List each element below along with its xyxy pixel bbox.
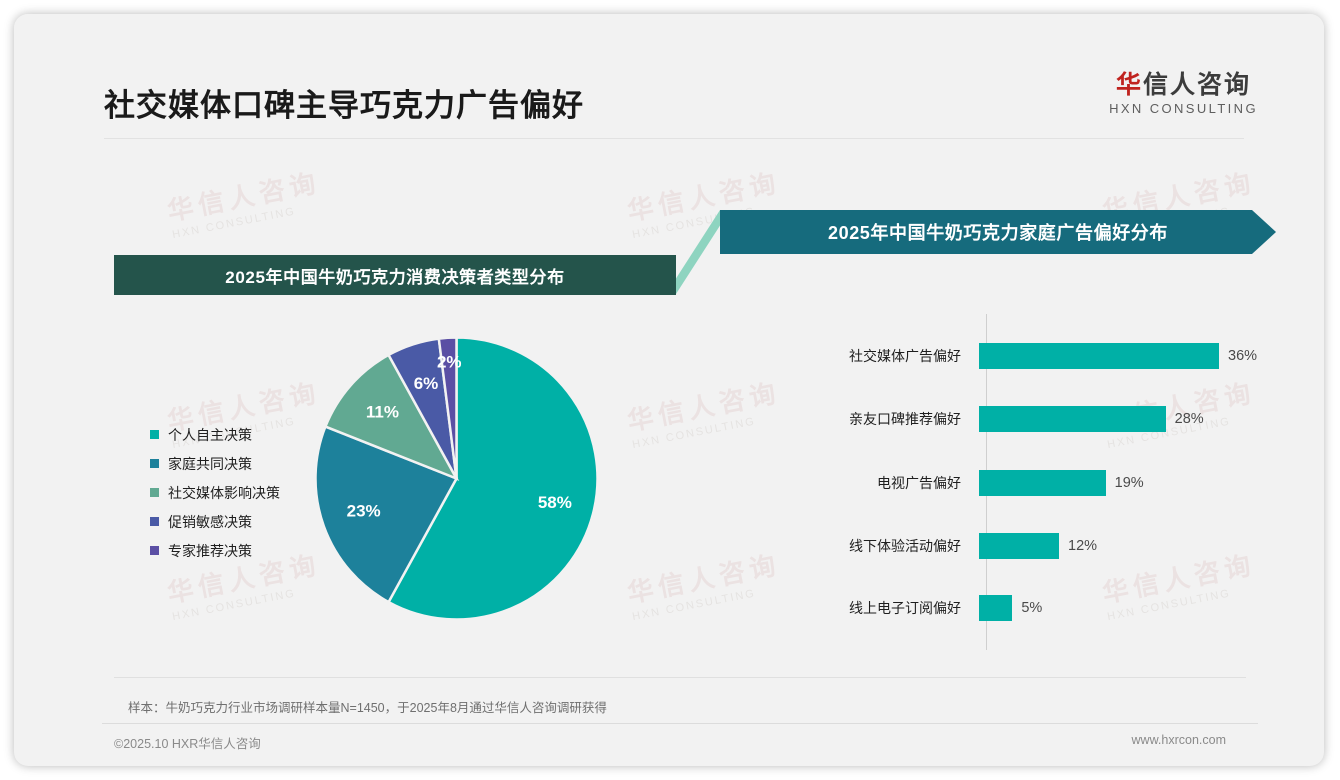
website-link[interactable]: www.hxrcon.com xyxy=(1132,733,1226,747)
watermark-en: HXN CONSULTING xyxy=(631,410,785,451)
watermark-cn: 华信人咨询 xyxy=(164,162,323,228)
legend-swatch-icon xyxy=(150,459,159,468)
bar-value-label: 5% xyxy=(1021,600,1042,616)
pie-legend: 个人自主决策家庭共同决策社交媒体影响决策促销敏感决策专家推荐决策 xyxy=(150,420,280,565)
bar-category-label: 社交媒体广告偏好 xyxy=(819,346,979,366)
watermark-en: HXN CONSULTING xyxy=(171,582,325,623)
bar-fill xyxy=(979,533,1059,559)
legend-swatch-icon xyxy=(150,546,159,555)
watermark: 华信人咨询 HXN CONSULTING xyxy=(164,162,326,241)
legend-item[interactable]: 专家推荐决策 xyxy=(150,536,280,565)
header-divider xyxy=(104,138,1244,139)
page-title: 社交媒体口碑主导巧克力广告偏好 xyxy=(104,80,584,125)
legend-item[interactable]: 促销敏感决策 xyxy=(150,507,280,536)
company-logo: 华信人咨询 HXN CONSULTING xyxy=(1109,72,1258,116)
watermark: 华信人咨询 HXN CONSULTING xyxy=(624,372,786,451)
bar-chart-row[interactable]: 线下体验活动偏好12% xyxy=(819,533,1097,559)
bar-category-label: 线上电子订阅偏好 xyxy=(819,598,979,618)
banner-right: 2025年中国牛奶巧克力家庭广告偏好分布 xyxy=(720,210,1276,254)
watermark-en: HXN CONSULTING xyxy=(631,582,785,623)
bar-chart-row[interactable]: 电视广告偏好19% xyxy=(819,470,1144,496)
legend-item-label: 社交媒体影响决策 xyxy=(168,483,280,503)
legend-swatch-icon xyxy=(150,430,159,439)
legend-item[interactable]: 家庭共同决策 xyxy=(150,449,280,478)
bar-category-label: 电视广告偏好 xyxy=(819,473,979,493)
logo-hua-glyph: 华 xyxy=(1116,71,1143,99)
bar-value-label: 19% xyxy=(1115,475,1144,491)
bar-chart: 社交媒体广告偏好36%亲友口碑推荐偏好28%电视广告偏好19%线下体验活动偏好1… xyxy=(819,314,1289,654)
pie-slice-label: 11% xyxy=(366,403,399,422)
watermark-en: HXN CONSULTING xyxy=(171,200,325,241)
banner-left-label: 2025年中国牛奶巧克力消费决策者类型分布 xyxy=(225,263,564,288)
logo-english-name: HXN CONSULTING xyxy=(1109,101,1258,116)
legend-item-label: 家庭共同决策 xyxy=(168,454,252,474)
bar-chart-row[interactable]: 线上电子订阅偏好5% xyxy=(819,595,1042,621)
bar-value-label: 36% xyxy=(1228,348,1257,364)
pie-chart-svg: 58%23%11%6%2% xyxy=(314,336,599,621)
logo-chinese-name: 华信人咨询 xyxy=(1109,72,1258,98)
footer-divider xyxy=(102,723,1258,724)
sample-note: 样本：牛奶巧克力行业市场调研样本量N=1450，于2025年8月通过华信人咨询调… xyxy=(128,697,607,716)
slide-header: 社交媒体口碑主导巧克力广告偏好 华信人咨询 HXN CONSULTING xyxy=(14,14,1324,140)
bar-category-label: 线下体验活动偏好 xyxy=(819,536,979,556)
watermark: 华信人咨询 HXN CONSULTING xyxy=(624,544,786,623)
legend-swatch-icon xyxy=(150,517,159,526)
legend-item-label: 专家推荐决策 xyxy=(168,541,252,561)
bar-fill xyxy=(979,406,1166,432)
bar-value-label: 28% xyxy=(1175,411,1204,427)
slide-canvas: 华信人咨询 HXN CONSULTING 华信人咨询 HXN CONSULTIN… xyxy=(14,14,1324,766)
legend-item-label: 个人自主决策 xyxy=(168,425,252,445)
pie-slice-label: 6% xyxy=(414,374,439,393)
watermark-cn: 华信人咨询 xyxy=(624,372,783,438)
banner-right-label: 2025年中国牛奶巧克力家庭广告偏好分布 xyxy=(828,219,1168,245)
pie-slice-label: 23% xyxy=(347,501,381,520)
legend-item-label: 促销敏感决策 xyxy=(168,512,252,532)
watermark-cn: 华信人咨询 xyxy=(624,544,783,610)
logo-name-rest: 信人咨询 xyxy=(1143,71,1251,99)
legend-swatch-icon xyxy=(150,488,159,497)
legend-item[interactable]: 社交媒体影响决策 xyxy=(150,478,280,507)
pie-slice-label: 2% xyxy=(437,353,462,372)
copyright-text: ©2025.10 HXR华信人咨询 xyxy=(114,733,261,752)
bar-chart-row[interactable]: 亲友口碑推荐偏好28% xyxy=(819,406,1204,432)
legend-item[interactable]: 个人自主决策 xyxy=(150,420,280,449)
note-divider xyxy=(114,677,1246,678)
bar-chart-row[interactable]: 社交媒体广告偏好36% xyxy=(819,343,1257,369)
bar-fill xyxy=(979,470,1106,496)
bar-fill xyxy=(979,595,1012,621)
pie-slice-label: 58% xyxy=(538,493,572,512)
bar-category-label: 亲友口碑推荐偏好 xyxy=(819,409,979,429)
pie-chart: 58%23%11%6%2% xyxy=(314,336,599,621)
bar-value-label: 12% xyxy=(1068,538,1097,554)
bar-fill xyxy=(979,343,1219,369)
banner-left: 2025年中国牛奶巧克力消费决策者类型分布 xyxy=(114,255,676,295)
